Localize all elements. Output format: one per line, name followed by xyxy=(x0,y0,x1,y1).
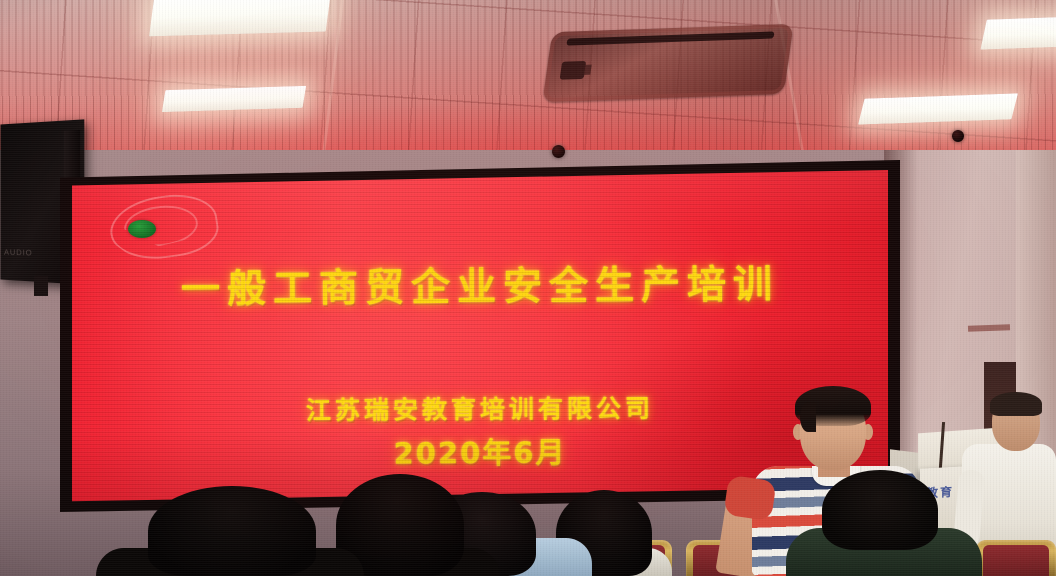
ceiling-light-panel-4 xyxy=(858,93,1018,124)
ceiling-light-panel-3 xyxy=(980,16,1056,49)
ceiling-light-panel-2 xyxy=(162,86,306,112)
led-screen: 一般工商贸企业安全生产培训 江苏瑞安教育培训有限公司 2020年6月 xyxy=(72,168,888,504)
chair-4-cushion xyxy=(983,545,1049,576)
seated-man-green-hair xyxy=(822,470,938,550)
photo-scene: AUDIO 一般工商贸企业安全生产培训 江苏瑞安教育培训有限公司 2020年6月… xyxy=(0,0,1056,576)
ac-vent-icon xyxy=(542,24,793,102)
standing-man-left-sleeve xyxy=(723,475,776,521)
audience-member-1-hair xyxy=(148,486,316,576)
led-screen-vignette xyxy=(72,168,888,504)
speaker-mount-bracket xyxy=(34,276,48,296)
speaker-brand-label: AUDIO xyxy=(4,248,33,257)
ceiling-light-panel-1 xyxy=(149,0,331,36)
ceiling-dome-sensor-center-icon xyxy=(552,145,565,158)
man-white-shirt-hair xyxy=(990,392,1042,416)
chair-4 xyxy=(976,540,1056,576)
ceiling-dome-sensor-right-icon xyxy=(952,130,964,142)
standing-man-hair xyxy=(795,386,871,426)
